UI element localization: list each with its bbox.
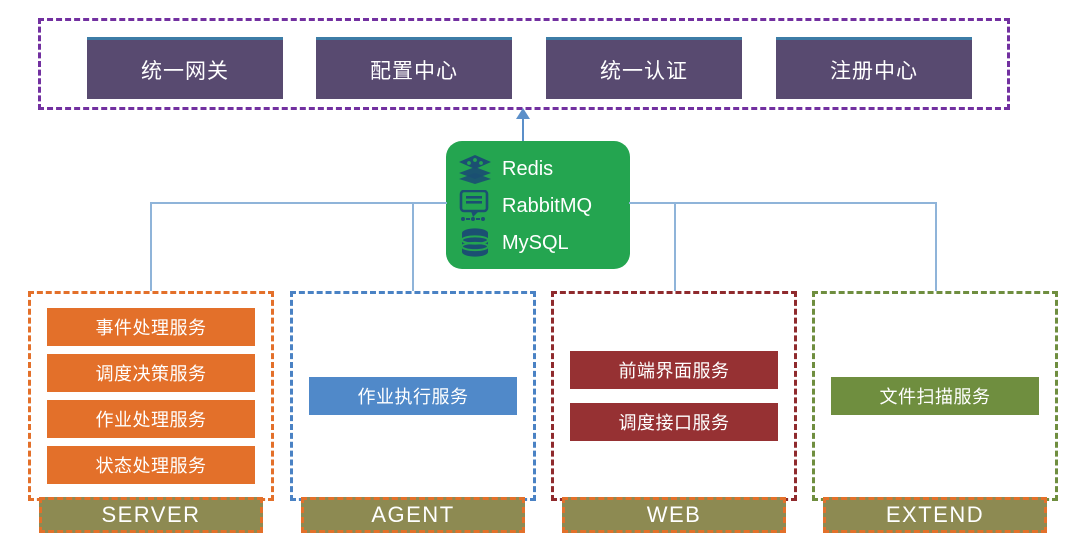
panel-web: 前端界面服务 调度接口服务 (551, 291, 797, 501)
service-stack-server: 事件处理服务 调度决策服务 作业处理服务 状态处理服务 (47, 308, 255, 484)
footer-bar-label: WEB (647, 502, 702, 528)
middleware-item-rabbitmq: RabbitMQ (456, 187, 630, 224)
connector-drop-web (674, 202, 676, 291)
footer-bar-extend: EXTEND (823, 497, 1047, 533)
service-box-label: 状态处理服务 (96, 452, 207, 478)
service-box-job-execution[interactable]: 作业执行服务 (309, 377, 517, 415)
platform-box-auth[interactable]: 统一认证 (546, 37, 742, 99)
connector-bus-left (150, 202, 447, 204)
arrow-up-shaft (522, 112, 524, 142)
platform-layer-group: 统一网关 配置中心 统一认证 注册中心 (38, 18, 1010, 110)
middleware-item-redis: Redis (456, 150, 630, 187)
service-box-label: 前端界面服务 (619, 357, 730, 383)
service-stack-web: 前端界面服务 调度接口服务 (570, 308, 778, 484)
footer-bar-label: EXTEND (886, 502, 984, 528)
service-box-status-processing[interactable]: 状态处理服务 (47, 446, 255, 484)
service-box-label: 文件扫描服务 (880, 383, 991, 409)
service-box-frontend-ui[interactable]: 前端界面服务 (570, 351, 778, 389)
database-cylinder-icon (456, 226, 494, 260)
panel-agent: 作业执行服务 (290, 291, 536, 501)
platform-box-label: 配置中心 (370, 55, 458, 85)
platform-box-registry[interactable]: 注册中心 (776, 37, 972, 99)
footer-bar-web: WEB (562, 497, 786, 533)
architecture-diagram: 统一网关 配置中心 统一认证 注册中心 (0, 0, 1080, 545)
service-box-schedule-decision[interactable]: 调度决策服务 (47, 354, 255, 392)
service-stack-extend: 文件扫描服务 (831, 308, 1039, 484)
layers-stack-icon (456, 152, 494, 186)
footer-bar-label: SERVER (101, 502, 200, 528)
service-box-label: 调度接口服务 (619, 409, 730, 435)
service-box-label: 事件处理服务 (96, 314, 207, 340)
service-stack-agent: 作业执行服务 (309, 308, 517, 484)
platform-box-config-center[interactable]: 配置中心 (316, 37, 512, 99)
footer-bar-agent: AGENT (301, 497, 525, 533)
footer-bar-server: SERVER (39, 497, 263, 533)
middleware-item-label: Redis (502, 159, 553, 179)
panel-server: 事件处理服务 调度决策服务 作业处理服务 状态处理服务 (28, 291, 274, 501)
platform-box-label: 统一网关 (141, 55, 229, 85)
service-box-job-processing[interactable]: 作业处理服务 (47, 400, 255, 438)
message-queue-icon (456, 189, 494, 223)
service-box-label: 调度决策服务 (96, 360, 207, 386)
connector-drop-server (150, 202, 152, 291)
footer-bar-label: AGENT (371, 502, 454, 528)
platform-box-label: 统一认证 (600, 55, 688, 85)
platform-box-label: 注册中心 (830, 55, 918, 85)
middleware-item-mysql: MySQL (456, 224, 630, 261)
service-box-file-scan[interactable]: 文件扫描服务 (831, 377, 1039, 415)
connector-drop-extend (935, 202, 937, 291)
platform-box-gateway[interactable]: 统一网关 (87, 37, 283, 99)
service-box-event-processing[interactable]: 事件处理服务 (47, 308, 255, 346)
service-box-label: 作业处理服务 (96, 406, 207, 432)
panel-extend: 文件扫描服务 (812, 291, 1058, 501)
service-box-schedule-api[interactable]: 调度接口服务 (570, 403, 778, 441)
connector-drop-agent (412, 202, 414, 291)
middleware-item-label: RabbitMQ (502, 196, 592, 216)
service-box-label: 作业执行服务 (358, 383, 469, 409)
middleware-box: Redis RabbitMQ (446, 141, 630, 269)
middleware-item-label: MySQL (502, 233, 569, 253)
